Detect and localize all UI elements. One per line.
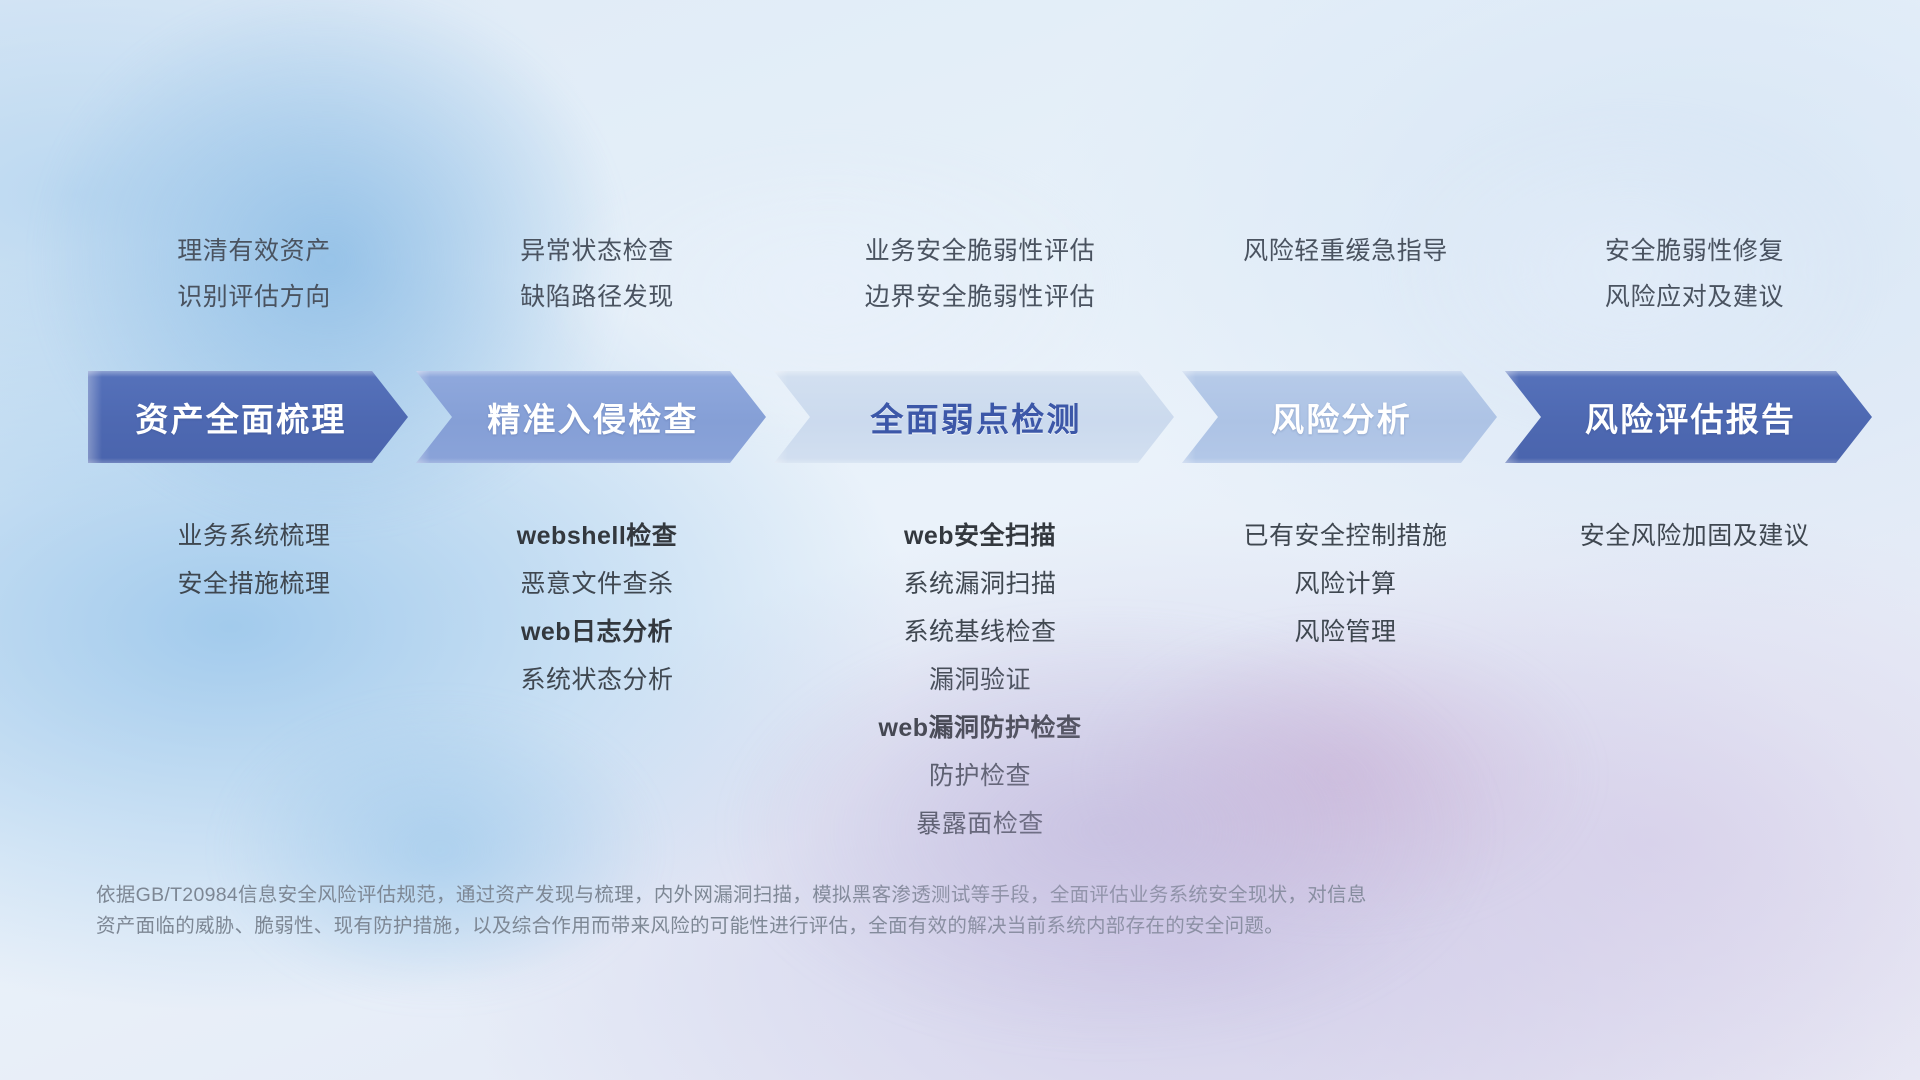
- process-stage-risk-analysis[interactable]: 风险分析: [1182, 371, 1497, 463]
- top-note-item: 异常状态检查: [418, 228, 776, 274]
- stage-label-asset-inventory: 资产全面梳理: [135, 393, 346, 441]
- bottom-note-item: 系统基线检查: [776, 608, 1184, 656]
- footer-line-2: 资产面临的威胁、脆弱性、现有防护措施，以及综合作用而带来风险的可能性进行评估，全…: [96, 911, 1616, 942]
- bottom-note-item: web日志分析: [418, 608, 776, 656]
- slide-canvas: 理清有效资产识别评估方向异常状态检查缺陷路径发现业务安全脆弱性评估边界安全脆弱性…: [0, 0, 1920, 1080]
- top-notes-risk-analysis: 风险轻重缓急指导: [1184, 228, 1507, 274]
- top-note-item: 风险轻重缓急指导: [1184, 228, 1507, 274]
- top-notes-asset-inventory: 理清有效资产识别评估方向: [90, 228, 418, 320]
- top-notes-weakness-detection: 业务安全脆弱性评估边界安全脆弱性评估: [776, 228, 1184, 320]
- bottom-note-item: 防护检查: [776, 752, 1184, 800]
- stage-label-risk-analysis: 风险分析: [1271, 393, 1412, 441]
- top-note-item: 业务安全脆弱性评估: [776, 228, 1184, 274]
- bottom-note-item: webshell检查: [418, 512, 776, 560]
- process-chevron-band: 资产全面梳理精准入侵检查全面弱点检测风险分析风险评估报告: [88, 371, 1840, 463]
- bottom-note-item: 系统漏洞扫描: [776, 560, 1184, 608]
- stage-label-assessment-report: 风险评估报告: [1585, 393, 1796, 441]
- bottom-notes-asset-inventory: 业务系统梳理安全措施梳理: [90, 512, 418, 608]
- bottom-notes-intrusion-check: webshell检查恶意文件查杀web日志分析系统状态分析: [418, 512, 776, 704]
- process-stage-intrusion-check[interactable]: 精准入侵检查: [416, 371, 766, 463]
- process-stage-asset-inventory[interactable]: 资产全面梳理: [88, 371, 408, 463]
- bottom-notes-weakness-detection: web安全扫描系统漏洞扫描系统基线检查漏洞验证web漏洞防护检查防护检查暴露面检…: [776, 512, 1184, 848]
- bottom-note-item: web安全扫描: [776, 512, 1184, 560]
- top-notes-intrusion-check: 异常状态检查缺陷路径发现: [418, 228, 776, 320]
- process-stage-assessment-report[interactable]: 风险评估报告: [1505, 371, 1872, 463]
- bottom-note-item: 风险管理: [1184, 608, 1507, 656]
- top-note-item: 缺陷路径发现: [418, 274, 776, 320]
- bottom-notes-row: 业务系统梳理安全措施梳理webshell检查恶意文件查杀web日志分析系统状态分…: [90, 512, 1830, 848]
- bottom-note-item: 安全风险加固及建议: [1507, 512, 1882, 560]
- top-notes-assessment-report: 安全脆弱性修复风险应对及建议: [1507, 228, 1882, 320]
- bottom-note-item: 安全措施梳理: [90, 560, 418, 608]
- bottom-note-item: 暴露面检查: [776, 800, 1184, 848]
- top-note-item: 识别评估方向: [90, 274, 418, 320]
- bottom-note-item: 已有安全控制措施: [1184, 512, 1507, 560]
- top-note-item: 理清有效资产: [90, 228, 418, 274]
- bottom-note-item: 系统状态分析: [418, 656, 776, 704]
- stage-label-intrusion-check: 精准入侵检查: [487, 393, 698, 441]
- bottom-note-item: 恶意文件查杀: [418, 560, 776, 608]
- bottom-note-item: 风险计算: [1184, 560, 1507, 608]
- top-notes-row: 理清有效资产识别评估方向异常状态检查缺陷路径发现业务安全脆弱性评估边界安全脆弱性…: [90, 228, 1830, 320]
- bottom-note-item: 漏洞验证: [776, 656, 1184, 704]
- bottom-notes-assessment-report: 安全风险加固及建议: [1507, 512, 1882, 560]
- bottom-notes-risk-analysis: 已有安全控制措施风险计算风险管理: [1184, 512, 1507, 656]
- process-stage-weakness-detection[interactable]: 全面弱点检测: [774, 371, 1174, 463]
- stage-label-weakness-detection: 全面弱点检测: [870, 393, 1081, 441]
- footer-description: 依据GB/T20984信息安全风险评估规范，通过资产发现与梳理，内外网漏洞扫描，…: [96, 880, 1616, 942]
- footer-line-1: 依据GB/T20984信息安全风险评估规范，通过资产发现与梳理，内外网漏洞扫描，…: [96, 880, 1616, 911]
- bottom-note-item: web漏洞防护检查: [776, 704, 1184, 752]
- bottom-note-item: 业务系统梳理: [90, 512, 418, 560]
- top-note-item: 边界安全脆弱性评估: [776, 274, 1184, 320]
- top-note-item: 风险应对及建议: [1507, 274, 1882, 320]
- top-note-item: 安全脆弱性修复: [1507, 228, 1882, 274]
